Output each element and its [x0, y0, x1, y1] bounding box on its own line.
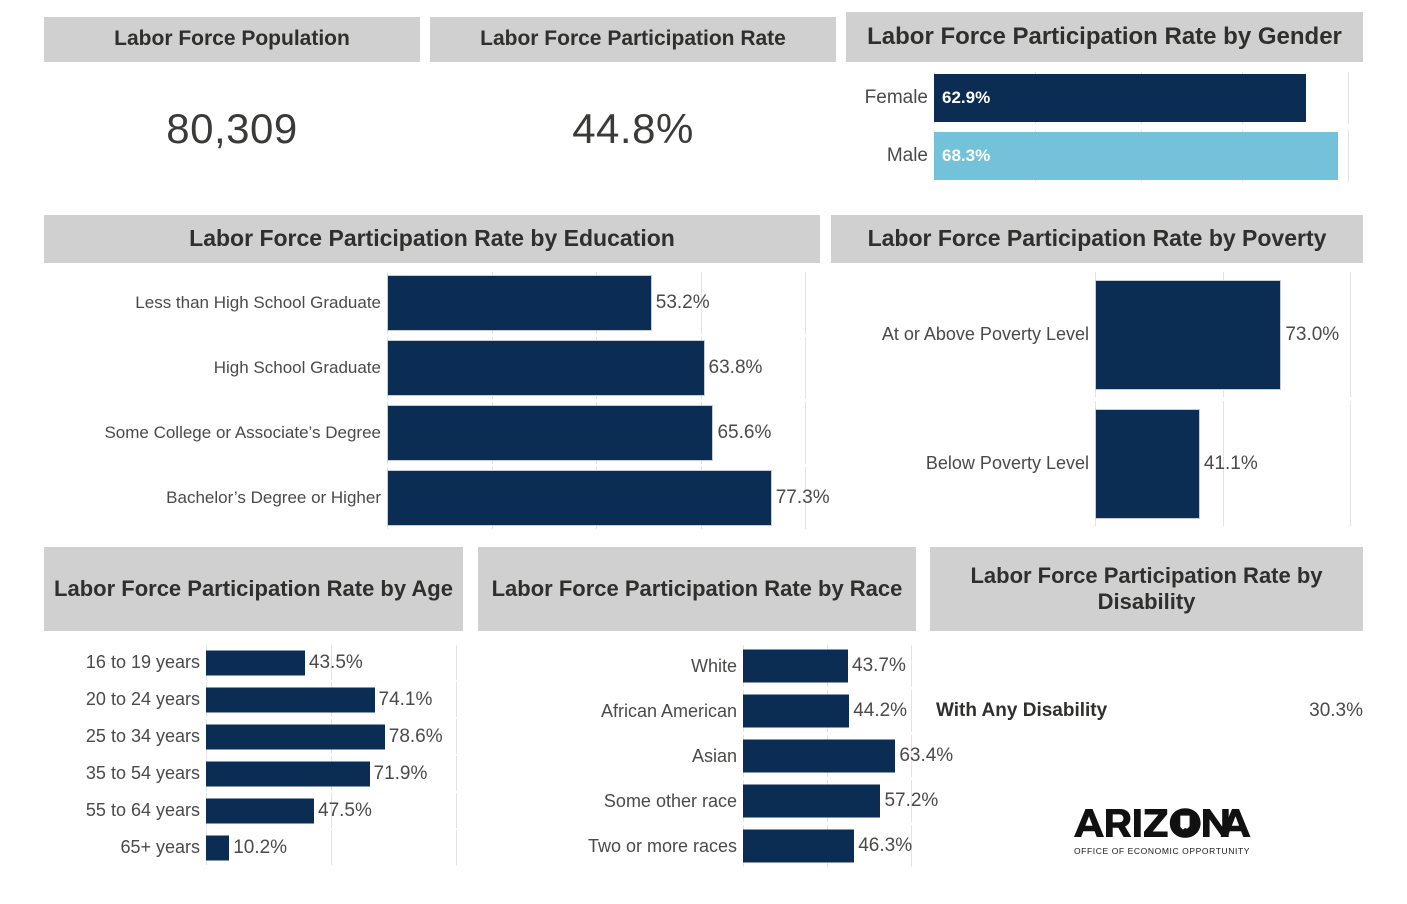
- arizona-oeo-logo: OFFICE OF ECONOMIC OPPORTUNITY: [1072, 806, 1252, 856]
- bar-value-label: 74.1%: [379, 689, 433, 711]
- chart-row: Bachelor’s Degree or Higher77.3%: [44, 467, 820, 529]
- chart-row: Female62.9%: [846, 72, 1363, 124]
- chart-row: High School Graduate63.8%: [44, 337, 820, 399]
- bar-category-label: Asian: [478, 746, 743, 767]
- bar[interactable]: [743, 785, 880, 818]
- bar-value-label: 43.7%: [852, 655, 906, 677]
- chart-row: Some College or Associate’s Degree65.6%: [44, 402, 820, 464]
- bar-value-label: 41.1%: [1204, 453, 1258, 475]
- bar[interactable]: [206, 687, 375, 712]
- bar[interactable]: [206, 798, 314, 823]
- bar-value-label: 53.2%: [656, 292, 710, 314]
- chart-participation-by-gender: Female62.9%Male68.3%: [846, 72, 1363, 198]
- chart-participation-by-education: Less than High School Graduate53.2%High …: [44, 272, 820, 532]
- panel-title-poverty: Labor Force Participation Rate by Povert…: [831, 215, 1363, 263]
- kpi-title-labor-force-population: Labor Force Population: [44, 17, 420, 62]
- gridline: [1348, 72, 1349, 124]
- panel-title-race: Labor Force Participation Rate by Race: [478, 547, 916, 631]
- bar-value-label: 62.9%: [942, 88, 990, 108]
- chart-row: White43.7%: [478, 645, 916, 687]
- bar-track: 78.6%: [206, 719, 463, 754]
- bar-track: 74.1%: [206, 682, 463, 717]
- disability-value: 30.3%: [1309, 700, 1363, 722]
- bar-value-label: 57.2%: [884, 790, 938, 812]
- chart-participation-by-age: 16 to 19 years43.5%20 to 24 years74.1%25…: [44, 645, 463, 870]
- gridline: [456, 682, 457, 717]
- disability-label: With Any Disability: [936, 700, 1107, 722]
- bar-category-label: 55 to 64 years: [44, 800, 206, 821]
- bar[interactable]: [1095, 280, 1281, 390]
- chart-row: 55 to 64 years47.5%: [44, 793, 463, 828]
- chart-row: Two or more races46.3%: [478, 825, 916, 867]
- bar[interactable]: [387, 340, 705, 396]
- bar-category-label: Below Poverty Level: [831, 453, 1095, 474]
- chart-row: 16 to 19 years43.5%: [44, 645, 463, 680]
- chart-row: 65+ years10.2%: [44, 830, 463, 865]
- bar-track: 53.2%: [387, 272, 820, 334]
- bar-category-label: 35 to 54 years: [44, 763, 206, 784]
- bar[interactable]: [743, 695, 849, 728]
- chart-row: 35 to 54 years71.9%: [44, 756, 463, 791]
- gridline: [456, 719, 457, 754]
- gridline: [911, 645, 912, 687]
- gridline: [805, 402, 806, 464]
- arizona-wordmark-icon: [1072, 806, 1252, 840]
- bar[interactable]: 62.9%: [934, 74, 1306, 122]
- chart-row: African American44.2%: [478, 690, 916, 732]
- bar[interactable]: [1095, 409, 1200, 519]
- bar-value-label: 71.9%: [374, 763, 428, 785]
- bar[interactable]: [743, 650, 848, 683]
- kpi-value-labor-force-participation-rate: 44.8%: [430, 105, 836, 153]
- bar-track: 46.3%: [743, 825, 916, 867]
- gridline: [911, 690, 912, 732]
- bar-track: 63.8%: [387, 337, 820, 399]
- bar-value-label: 43.5%: [309, 652, 363, 674]
- panel-title-gender: Labor Force Participation Rate by Gender: [846, 12, 1363, 62]
- bar-track: 77.3%: [387, 467, 820, 529]
- chart-row: Some other race57.2%: [478, 780, 916, 822]
- bar-category-label: Less than High School Graduate: [44, 293, 387, 313]
- bar[interactable]: [743, 830, 854, 863]
- bar-category-label: Female: [846, 87, 934, 109]
- bar-track: 63.4%: [743, 735, 916, 777]
- bar[interactable]: [206, 724, 385, 749]
- bar-track: 65.6%: [387, 402, 820, 464]
- bar-value-label: 73.0%: [1285, 324, 1339, 346]
- panel-title-age: Labor Force Participation Rate by Age: [44, 547, 463, 631]
- bar-track: 47.5%: [206, 793, 463, 828]
- bar-value-label: 63.8%: [709, 357, 763, 379]
- panel-title-disability: Labor Force Participation Rate by Disabi…: [930, 547, 1363, 631]
- bar-value-label: 10.2%: [233, 837, 287, 859]
- bar-track: 73.0%: [1095, 272, 1363, 397]
- kpi-title-labor-force-participation-rate: Labor Force Participation Rate: [430, 17, 836, 62]
- bar[interactable]: 68.3%: [934, 132, 1338, 180]
- bar-track: 68.3%: [934, 130, 1363, 182]
- panel-title-education: Labor Force Participation Rate by Educat…: [44, 215, 820, 263]
- bar[interactable]: [387, 275, 652, 331]
- bar-value-label: 68.3%: [942, 146, 990, 166]
- bar-track: 44.2%: [743, 690, 916, 732]
- bar-category-label: At or Above Poverty Level: [831, 324, 1095, 345]
- chart-participation-by-race: White43.7%African American44.2%Asian63.4…: [478, 645, 916, 870]
- bar[interactable]: [206, 761, 370, 786]
- bar-track: 10.2%: [206, 830, 463, 865]
- bar-track: 57.2%: [743, 780, 916, 822]
- bar-track: 41.1%: [1095, 401, 1363, 526]
- kpi-value-labor-force-population: 80,309: [44, 105, 420, 153]
- disability-stat-row: With Any Disability 30.3%: [936, 700, 1363, 722]
- bar-value-label: 44.2%: [853, 700, 907, 722]
- chart-row: Asian63.4%: [478, 735, 916, 777]
- chart-row: Below Poverty Level41.1%: [831, 401, 1363, 526]
- bar-category-label: Some College or Associate’s Degree: [44, 423, 387, 443]
- bar[interactable]: [387, 405, 713, 461]
- bar-category-label: 65+ years: [44, 837, 206, 858]
- bar-track: 71.9%: [206, 756, 463, 791]
- gridline: [805, 337, 806, 399]
- gridline: [1350, 401, 1351, 526]
- bar-category-label: African American: [478, 701, 743, 722]
- bar[interactable]: [206, 650, 305, 675]
- gridline: [331, 830, 332, 865]
- bar-value-label: 78.6%: [389, 726, 443, 748]
- bar-category-label: 20 to 24 years: [44, 689, 206, 710]
- bar-value-label: 46.3%: [858, 835, 912, 857]
- logo-tagline: OFFICE OF ECONOMIC OPPORTUNITY: [1072, 846, 1252, 856]
- gridline: [456, 793, 457, 828]
- chart-row: Less than High School Graduate53.2%: [44, 272, 820, 334]
- chart-row: At or Above Poverty Level73.0%: [831, 272, 1363, 397]
- gridline: [456, 830, 457, 865]
- gridline: [1348, 130, 1349, 182]
- bar-category-label: Male: [846, 145, 934, 167]
- bar[interactable]: [743, 740, 895, 773]
- bar-value-label: 65.6%: [717, 422, 771, 444]
- bar-track: 43.7%: [743, 645, 916, 687]
- bar-category-label: Bachelor’s Degree or Higher: [44, 488, 387, 508]
- bar[interactable]: [206, 835, 229, 860]
- bar-category-label: 25 to 34 years: [44, 726, 206, 747]
- bar-value-label: 77.3%: [776, 487, 830, 509]
- bar-category-label: Some other race: [478, 791, 743, 812]
- bar-category-label: Two or more races: [478, 836, 743, 857]
- bar-track: 43.5%: [206, 645, 463, 680]
- bar-value-label: 63.4%: [899, 745, 953, 767]
- bar[interactable]: [387, 470, 772, 526]
- bar-value-label: 47.5%: [318, 800, 372, 822]
- bar-track: 62.9%: [934, 72, 1363, 124]
- bar-category-label: White: [478, 656, 743, 677]
- bar-category-label: High School Graduate: [44, 358, 387, 378]
- chart-row: Male68.3%: [846, 130, 1363, 182]
- gridline: [1350, 272, 1351, 397]
- bar-category-label: 16 to 19 years: [44, 652, 206, 673]
- gridline: [805, 272, 806, 334]
- chart-row: 25 to 34 years78.6%: [44, 719, 463, 754]
- chart-row: 20 to 24 years74.1%: [44, 682, 463, 717]
- chart-participation-by-poverty: At or Above Poverty Level73.0%Below Pove…: [831, 272, 1363, 532]
- gridline: [456, 756, 457, 791]
- gridline: [456, 645, 457, 680]
